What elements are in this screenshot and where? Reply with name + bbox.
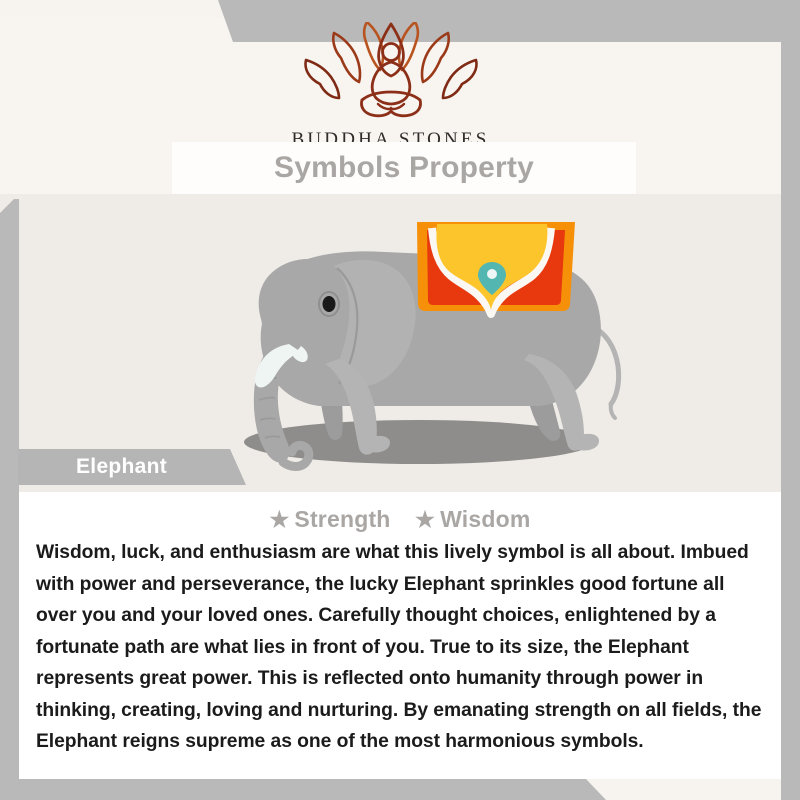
symbol-name: Elephant (76, 455, 167, 479)
page-title-band: Symbols Property (172, 142, 636, 194)
lotus-meditation-icon (0, 22, 781, 127)
brand-logo: BUDDHA STONES (0, 22, 781, 151)
symbol-property-card: BUDDHA STONES Symbols Property (0, 0, 800, 800)
attribute-strength-label: Strength (294, 506, 390, 532)
attribute-wisdom-label: Wisdom (440, 506, 530, 532)
page-title: Symbols Property (274, 151, 534, 185)
decorative-left-bar (0, 199, 19, 800)
decorative-right-bar (781, 0, 800, 800)
attribute-strength: ★Strength (269, 506, 390, 533)
elephant-illustration (19, 194, 781, 492)
star-icon: ★ (269, 507, 289, 532)
symbol-description-text: Wisdom, luck, and enthusiasm are what th… (36, 537, 764, 758)
symbol-description-card: ★Strength ★Wisdom Wisdom, luck, and enth… (19, 492, 781, 779)
decorative-bottom-bar (0, 779, 800, 800)
attribute-wisdom: ★Wisdom (415, 506, 530, 533)
attribute-list: ★Strength ★Wisdom (19, 492, 781, 533)
symbol-name-banner: Elephant (18, 449, 246, 485)
star-icon: ★ (415, 507, 435, 532)
